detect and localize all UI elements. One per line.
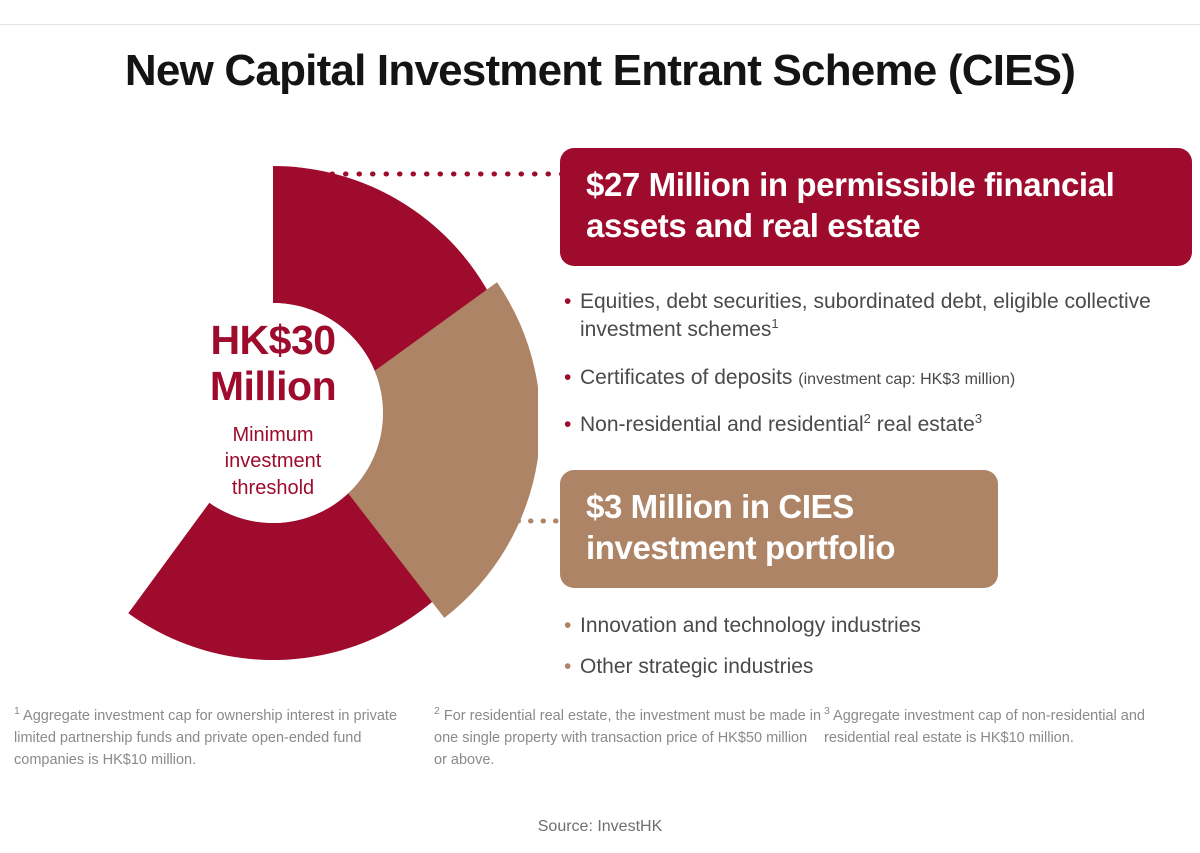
list-item: • Certificates of deposits (investment c… bbox=[564, 364, 1192, 393]
bullet-text: Other strategic industries bbox=[580, 653, 1192, 682]
bullet-list-red: • Equities, debt securities, subordinate… bbox=[564, 288, 1192, 440]
bullet-dot-icon: • bbox=[564, 411, 580, 440]
donut-chart: HK$30 Million Minimum investment thresho… bbox=[8, 148, 538, 678]
footnote-text: For residential real estate, the investm… bbox=[434, 708, 821, 768]
bullet-text: Non-residential and residential bbox=[580, 413, 864, 436]
footnote-text: Aggregate investment cap of non-resident… bbox=[824, 708, 1145, 746]
bullet-note: (investment cap: HK$3 million) bbox=[798, 371, 1015, 388]
page-title: New Capital Investment Entrant Scheme (C… bbox=[0, 46, 1200, 96]
bullet-list-tan: • Innovation and technology industries •… bbox=[564, 612, 1192, 682]
footnote-2: 2 For residential real estate, the inves… bbox=[434, 705, 824, 771]
footnotes: 1 Aggregate investment cap for ownership… bbox=[14, 705, 1194, 771]
bullet-dot-icon: • bbox=[564, 612, 580, 641]
bullet-text: Certificates of deposits bbox=[580, 366, 792, 389]
banner-permissible-assets[interactable]: $27 Million in permissible financial ass… bbox=[560, 148, 1192, 266]
footnote-3: 3 Aggregate investment cap of non-reside… bbox=[824, 705, 1194, 771]
footnote-marker: 1 bbox=[14, 706, 20, 717]
footnote-marker: 3 bbox=[824, 706, 830, 717]
lightbulb-gear-icon bbox=[414, 628, 474, 678]
list-item: • Innovation and technology industries bbox=[564, 612, 1192, 641]
donut-chart-svg bbox=[8, 148, 538, 678]
bullet-text-continued: real estate bbox=[871, 413, 975, 436]
source-label: Source: InvestHK bbox=[0, 818, 1200, 836]
bullet-superscript: 3 bbox=[975, 411, 982, 426]
banner-cies-portfolio[interactable]: $3 Million in CIES investment portfolio bbox=[560, 470, 998, 588]
bullet-text: Equities, debt securities, subordinated … bbox=[580, 290, 1151, 342]
list-item: • Equities, debt securities, subordinate… bbox=[564, 288, 1192, 345]
bullet-dot-icon: • bbox=[564, 288, 580, 317]
right-column: $27 Million in permissible financial ass… bbox=[560, 148, 1192, 695]
bullet-dot-icon: • bbox=[564, 364, 580, 393]
footnote-text: Aggregate investment cap for ownership i… bbox=[14, 708, 397, 768]
bullet-dot-icon: • bbox=[564, 653, 580, 682]
list-item: • Non-residential and residential2 real … bbox=[564, 411, 1192, 440]
top-divider bbox=[0, 24, 1200, 25]
bullet-text: Innovation and technology industries bbox=[580, 612, 1192, 641]
bullet-superscript: 2 bbox=[864, 411, 871, 426]
footnote-marker: 2 bbox=[434, 706, 440, 717]
bullet-superscript: 1 bbox=[771, 316, 778, 331]
footnote-1: 1 Aggregate investment cap for ownership… bbox=[14, 705, 434, 771]
list-item: • Other strategic industries bbox=[564, 653, 1192, 682]
